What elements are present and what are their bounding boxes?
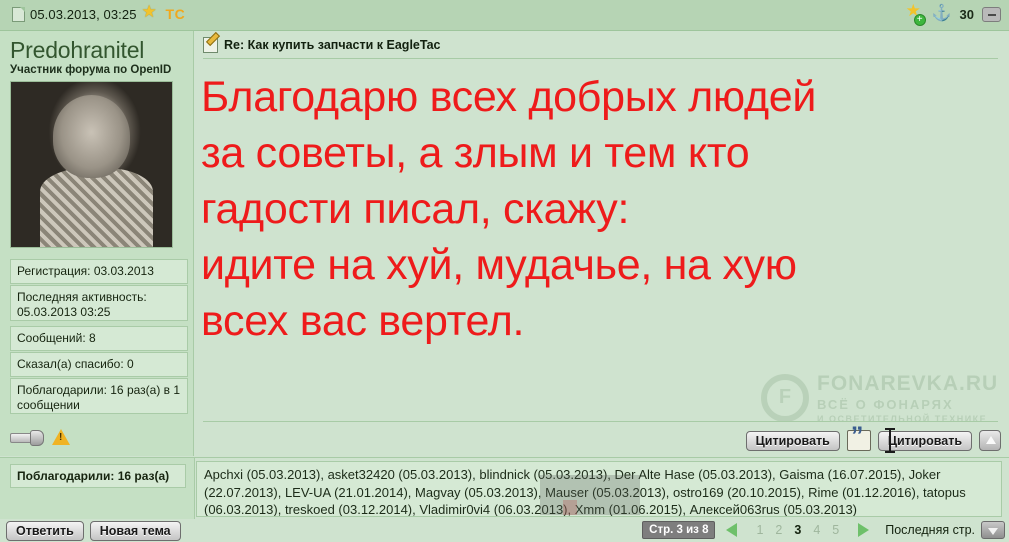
watermark-line-2: ВСЁ О ФОНАРЯХ xyxy=(817,397,998,413)
post-content-area: Re: Как купить запчасти к EagleTac Благо… xyxy=(195,31,1009,456)
user-badge-icons xyxy=(10,429,70,445)
avatar[interactable] xyxy=(10,81,173,248)
post-header-left: 05.03.2013, 03:25 TC xyxy=(12,6,185,22)
document-icon xyxy=(12,7,25,22)
quote-button-2[interactable]: Цитировать xyxy=(878,431,972,451)
page-link-1[interactable]: 1 xyxy=(750,522,769,538)
post-number: 30 xyxy=(960,7,974,22)
next-page-arrow[interactable] xyxy=(848,522,872,539)
reply-button[interactable]: Ответить xyxy=(6,521,84,541)
star-plus-icon[interactable] xyxy=(906,5,924,23)
user-info-thanks-received: Поблагодарили: 16 раз(а) в 1 сообщении xyxy=(10,378,188,414)
forum-post-page: 05.03.2013, 03:25 TC ⚓ 30 Predohranitel … xyxy=(0,0,1009,542)
user-info-last-activity: Последняя активность: 05.03.2013 03:25 xyxy=(10,285,188,321)
post-date: 05.03.2013, 03:25 xyxy=(30,7,137,22)
page-link-5[interactable]: 5 xyxy=(826,522,845,538)
post-header-bar: 05.03.2013, 03:25 TC ⚓ 30 xyxy=(0,0,1009,31)
thanks-label-cell: Поблагодарили: 16 раз(а) xyxy=(0,458,195,520)
pagination: Стр. 3 из 8 1 2 3 4 5 Последняя стр. xyxy=(642,521,1005,539)
thanks-user-list[interactable]: Apchxi (05.03.2013), asket32420 (05.03.2… xyxy=(196,461,1002,517)
chevron-down-icon[interactable] xyxy=(981,521,1005,539)
post-line-2: за советы, а злым и тем кто xyxy=(201,125,1001,181)
quote-button-1[interactable]: Цитировать xyxy=(746,431,840,451)
watermark-text: FONAREVKA.RU ВСЁ О ФОНАРЯХ И ОСВЕТИТЕЛЬН… xyxy=(817,371,998,425)
post-line-3: гадости писал, скажу: xyxy=(201,181,1001,237)
thread-starter-badge: TC xyxy=(166,6,186,22)
user-info-posts: Сообщений: 8 xyxy=(10,326,188,351)
post-body: Благодарю всех добрых людей за советы, а… xyxy=(201,69,1001,349)
page-link-2[interactable]: 2 xyxy=(769,522,788,538)
thanks-count-label: Поблагодарили: 16 раз(а) xyxy=(10,464,186,488)
previous-page-arrow[interactable] xyxy=(723,522,747,539)
multi-quote-icon[interactable] xyxy=(847,430,871,451)
watermark-logo-icon xyxy=(761,374,809,422)
page-link-4[interactable]: 4 xyxy=(807,522,826,538)
last-page-link[interactable]: Последняя стр. xyxy=(879,523,981,537)
user-info-registration: Регистрация: 03.03.2013 xyxy=(10,259,188,284)
new-topic-button[interactable]: Новая тема xyxy=(90,521,181,541)
post-line-4: идите на хуй, мудачье, на хую xyxy=(201,237,1001,293)
username[interactable]: Predohranitel xyxy=(10,37,144,64)
thanks-row: Поблагодарили: 16 раз(а) Apchxi (05.03.2… xyxy=(0,457,1009,519)
minimize-button[interactable] xyxy=(982,7,1001,22)
user-sidebar: Predohranitel Участник форума по OpenID … xyxy=(0,31,194,456)
post-title: Re: Как купить запчасти к EagleTac xyxy=(224,38,440,52)
user-title: Участник форума по OpenID xyxy=(10,64,171,76)
star-icon xyxy=(142,6,158,22)
footer-left-buttons: Ответить Новая тема xyxy=(6,521,181,541)
post-action-buttons: Цитировать Цитировать xyxy=(746,430,1001,451)
post-title-row: Re: Как купить запчасти к EagleTac xyxy=(203,37,440,53)
watermark-line-3: И ОСВЕТИТЕЛЬНОЙ ТЕХНИКЕ xyxy=(817,414,998,425)
post-header-right: ⚓ 30 xyxy=(906,5,1001,23)
post-line-1: Благодарю всех добрых людей xyxy=(201,69,1001,125)
text-cursor xyxy=(889,428,891,453)
site-watermark: FONAREVKA.RU ВСЁ О ФОНАРЯХ И ОСВЕТИТЕЛЬН… xyxy=(761,369,1001,427)
warning-icon[interactable] xyxy=(52,429,70,445)
anchor-icon[interactable]: ⚓ xyxy=(932,5,952,23)
title-divider xyxy=(203,58,998,59)
page-link-3[interactable]: 3 xyxy=(788,522,807,538)
page-indicator: Стр. 3 из 8 xyxy=(642,521,715,539)
page-footer-bar: Ответить Новая тема Стр. 3 из 8 1 2 3 4 … xyxy=(0,519,1009,542)
post-footer-divider xyxy=(203,421,998,422)
edit-post-icon xyxy=(203,37,218,53)
scroll-to-top-button[interactable] xyxy=(979,430,1001,451)
post-line-5: всех вас вертел. xyxy=(201,293,1001,349)
user-info-thanks-given: Сказал(а) спасибо: 0 xyxy=(10,352,188,377)
flashlight-icon xyxy=(10,430,44,444)
watermark-line-1: FONAREVKA.RU xyxy=(817,371,998,397)
